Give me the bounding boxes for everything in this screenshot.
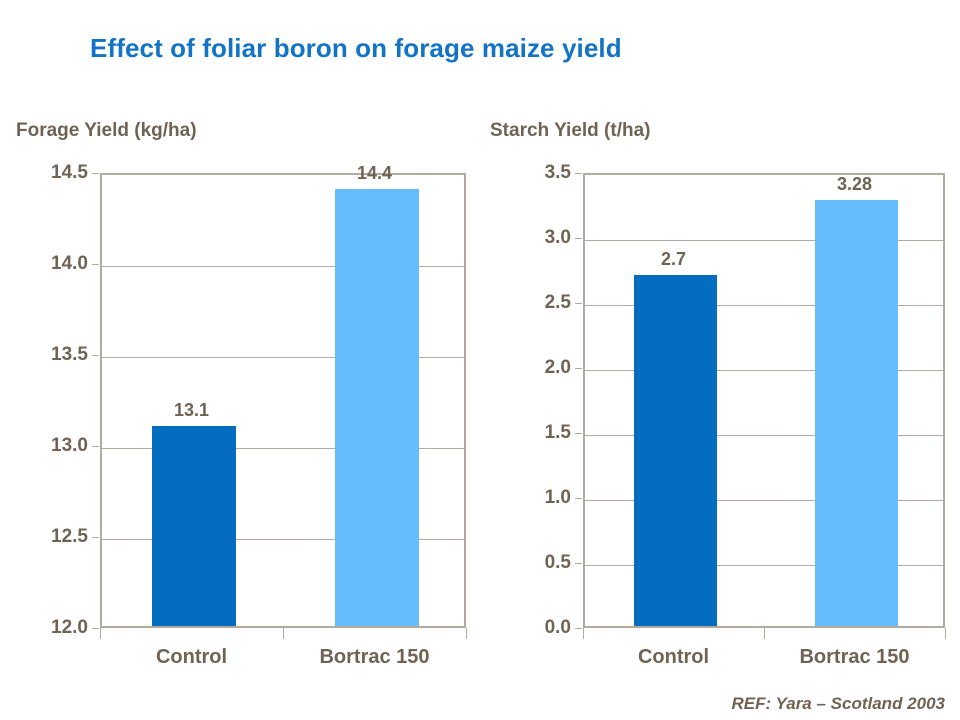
y-axis-tick-mark <box>575 303 582 304</box>
bar-control[interactable] <box>634 275 717 626</box>
chart-forage-yield: Forage Yield (kg/ha) 14.514.013.513.012.… <box>0 120 480 680</box>
x-axis-label-bortrac-150: Bortrac 150 <box>799 646 909 669</box>
y-axis-tick-label: 13.0 <box>10 435 88 457</box>
y-axis-tick-mark <box>92 173 99 174</box>
y-axis-tick-mark <box>575 238 582 239</box>
y-axis-tick-label: 14.0 <box>10 253 88 275</box>
y-axis-tick-label: 1.5 <box>505 422 571 444</box>
y-axis-tick-label: 3.0 <box>505 227 571 249</box>
y-axis-tick-mark <box>92 355 99 356</box>
y-axis-tick-label: 13.5 <box>10 344 88 366</box>
x-axis-end-tick <box>583 628 584 639</box>
y-axis-tick-mark <box>575 498 582 499</box>
bar-bortrac-150[interactable] <box>815 200 898 626</box>
chart-forage-plot-area <box>100 173 466 628</box>
bar-value-label: 13.1 <box>174 400 209 421</box>
x-axis-label-bortrac-150: Bortrac 150 <box>319 646 429 669</box>
chart-starch-plot-area <box>583 173 945 628</box>
y-axis-tick-mark <box>92 264 99 265</box>
x-axis-tick-separator <box>764 628 765 639</box>
x-axis-end-tick <box>466 628 467 639</box>
page-title: Effect of foliar boron on forage maize y… <box>90 33 622 64</box>
y-axis-tick-mark <box>575 628 582 629</box>
x-axis-tick-separator <box>283 628 284 639</box>
y-axis-tick-mark <box>575 433 582 434</box>
y-axis-tick-mark <box>575 563 582 564</box>
y-axis-tick-label: 0.0 <box>505 617 571 639</box>
chart-forage-axis-title: Forage Yield (kg/ha) <box>16 120 197 142</box>
chart-starch-axis-title: Starch Yield (t/ha) <box>490 120 650 142</box>
y-axis-tick-label: 3.5 <box>505 162 571 184</box>
y-axis-tick-label: 2.0 <box>505 357 571 379</box>
y-axis-tick-label: 0.5 <box>505 552 571 574</box>
x-axis-end-tick <box>100 628 101 639</box>
bar-bortrac-150[interactable] <box>335 189 419 626</box>
bar-value-label: 3.28 <box>837 174 872 195</box>
y-axis-tick-label: 2.5 <box>505 292 571 314</box>
y-axis-tick-label: 12.0 <box>10 617 88 639</box>
x-axis-label-control: Control <box>156 646 227 669</box>
y-axis-tick-label: 1.0 <box>505 487 571 509</box>
x-axis-end-tick <box>945 628 946 639</box>
bar-value-label: 14.4 <box>357 163 392 184</box>
y-axis-tick-mark <box>92 537 99 538</box>
bar-control[interactable] <box>152 426 236 626</box>
y-axis-tick-label: 14.5 <box>10 162 88 184</box>
y-axis-tick-mark <box>92 628 99 629</box>
x-axis-label-control: Control <box>638 646 709 669</box>
bar-value-label: 2.7 <box>661 249 686 270</box>
y-axis-tick-label: 12.5 <box>10 526 88 548</box>
y-axis-tick-mark <box>92 446 99 447</box>
reference-note: REF: Yara – Scotland 2003 <box>731 694 945 714</box>
chart-starch-yield: Starch Yield (t/ha) 3.53.02.52.01.51.00.… <box>485 120 960 680</box>
y-axis-tick-mark <box>575 368 582 369</box>
y-axis-tick-mark <box>575 173 582 174</box>
